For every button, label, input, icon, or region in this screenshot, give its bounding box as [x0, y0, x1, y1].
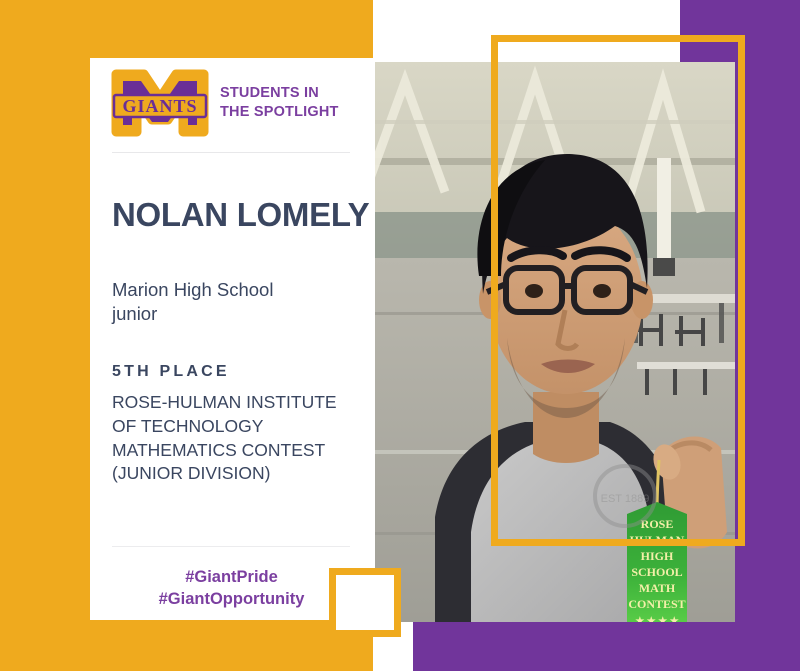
svg-text:SCHOOL: SCHOOL	[631, 565, 682, 579]
award-place: 5TH PLACE	[112, 363, 370, 381]
gold-left-bar	[0, 0, 90, 671]
marion-giants-logo-icon: GIANTS	[111, 68, 209, 138]
svg-text:MATH: MATH	[639, 581, 676, 595]
graphic-canvas: ROSE HULMAN HIGH SCHOOL MATH CONTEST ★ ★…	[0, 0, 800, 671]
brand-header: GIANTS STUDENTS IN THE SPOTLIGHT	[111, 68, 339, 138]
student-name: NOLAN LOMELY	[112, 198, 370, 231]
gold-outline-frame	[491, 35, 745, 546]
award-description: ROSE-HULMAN INSTITUTE OF TECHNOLOGY MATH…	[112, 391, 380, 486]
svg-text:★ ★ ★ ★: ★ ★ ★ ★	[635, 616, 678, 622]
svg-text:CONTEST: CONTEST	[628, 597, 685, 611]
gold-bottom-bar	[0, 620, 373, 671]
purple-bottom-block	[413, 622, 800, 671]
hashtags: #GiantPride #GiantOpportunity	[90, 566, 373, 610]
gold-top-bar	[0, 0, 373, 58]
divider-bottom	[112, 546, 350, 547]
student-school-grade: Marion High School junior	[112, 278, 370, 327]
divider-top	[112, 152, 350, 153]
info-panel: GIANTS STUDENTS IN THE SPOTLIGHT NOLAN L…	[90, 58, 373, 620]
svg-text:GIANTS: GIANTS	[122, 96, 197, 116]
spotlight-title: STUDENTS IN THE SPOTLIGHT	[220, 84, 339, 121]
svg-text:HIGH: HIGH	[641, 549, 674, 563]
